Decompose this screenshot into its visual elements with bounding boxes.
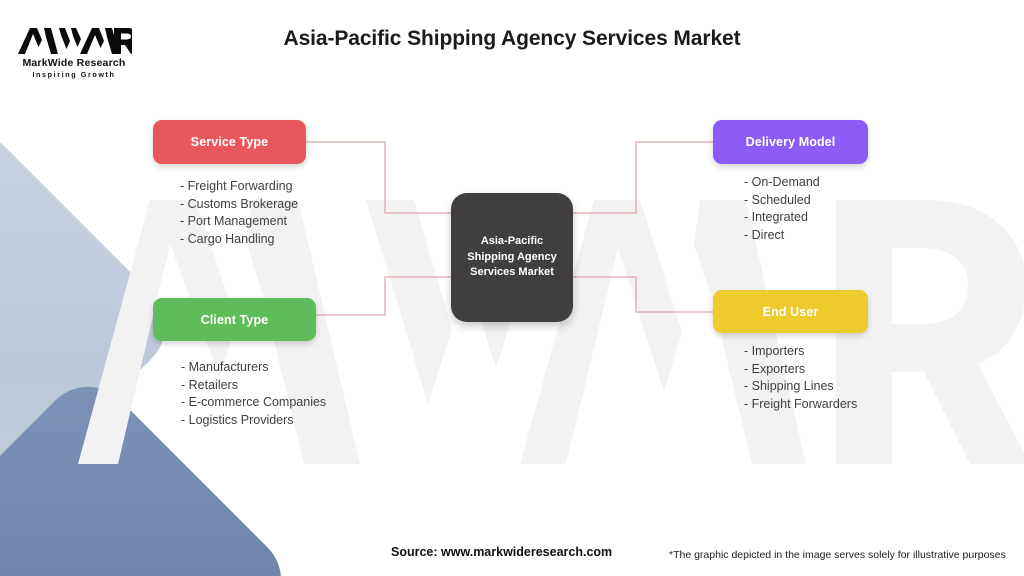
list-item: - Logistics Providers [181,412,326,430]
list-item: - Exporters [744,361,857,379]
disclaimer-note: *The graphic depicted in the image serve… [669,549,1006,561]
list-item: - Integrated [744,209,820,227]
node-service-type[interactable]: Service Type [153,120,306,164]
list-delivery-model: - On-Demand - Scheduled - Integrated - D… [744,174,820,244]
list-item: - Retailers [181,377,326,395]
connector-end-user [573,277,713,312]
list-item: - Importers [744,343,857,361]
list-item: - Direct [744,227,820,245]
list-item: - On-Demand [744,174,820,192]
list-item: - Scheduled [744,192,820,210]
connector-client-type [316,277,451,315]
list-item: - Freight Forwarding [180,178,298,196]
list-end-user: - Importers - Exporters - Shipping Lines… [744,343,857,413]
list-service-type: - Freight Forwarding - Customs Brokerage… [180,178,298,248]
list-item: - Manufacturers [181,359,326,377]
node-end-user[interactable]: End User [713,290,868,333]
list-item: - Customs Brokerage [180,196,298,214]
list-item: - Freight Forwarders [744,396,857,414]
center-node: Asia-Pacific Shipping Agency Services Ma… [451,193,573,322]
list-item: - Shipping Lines [744,378,857,396]
connector-service-type [306,142,451,213]
list-item: - E-commerce Companies [181,394,326,412]
list-item: - Cargo Handling [180,231,298,249]
list-client-type: - Manufacturers - Retailers - E-commerce… [181,359,326,429]
node-client-type[interactable]: Client Type [153,298,316,341]
list-item: - Port Management [180,213,298,231]
infographic-canvas: MarkWide Research Inspiring Growth Asia-… [0,0,1024,576]
source-label[interactable]: Source: www.markwideresearch.com [391,545,612,559]
node-delivery-model[interactable]: Delivery Model [713,120,868,164]
connector-delivery-model [573,142,713,213]
